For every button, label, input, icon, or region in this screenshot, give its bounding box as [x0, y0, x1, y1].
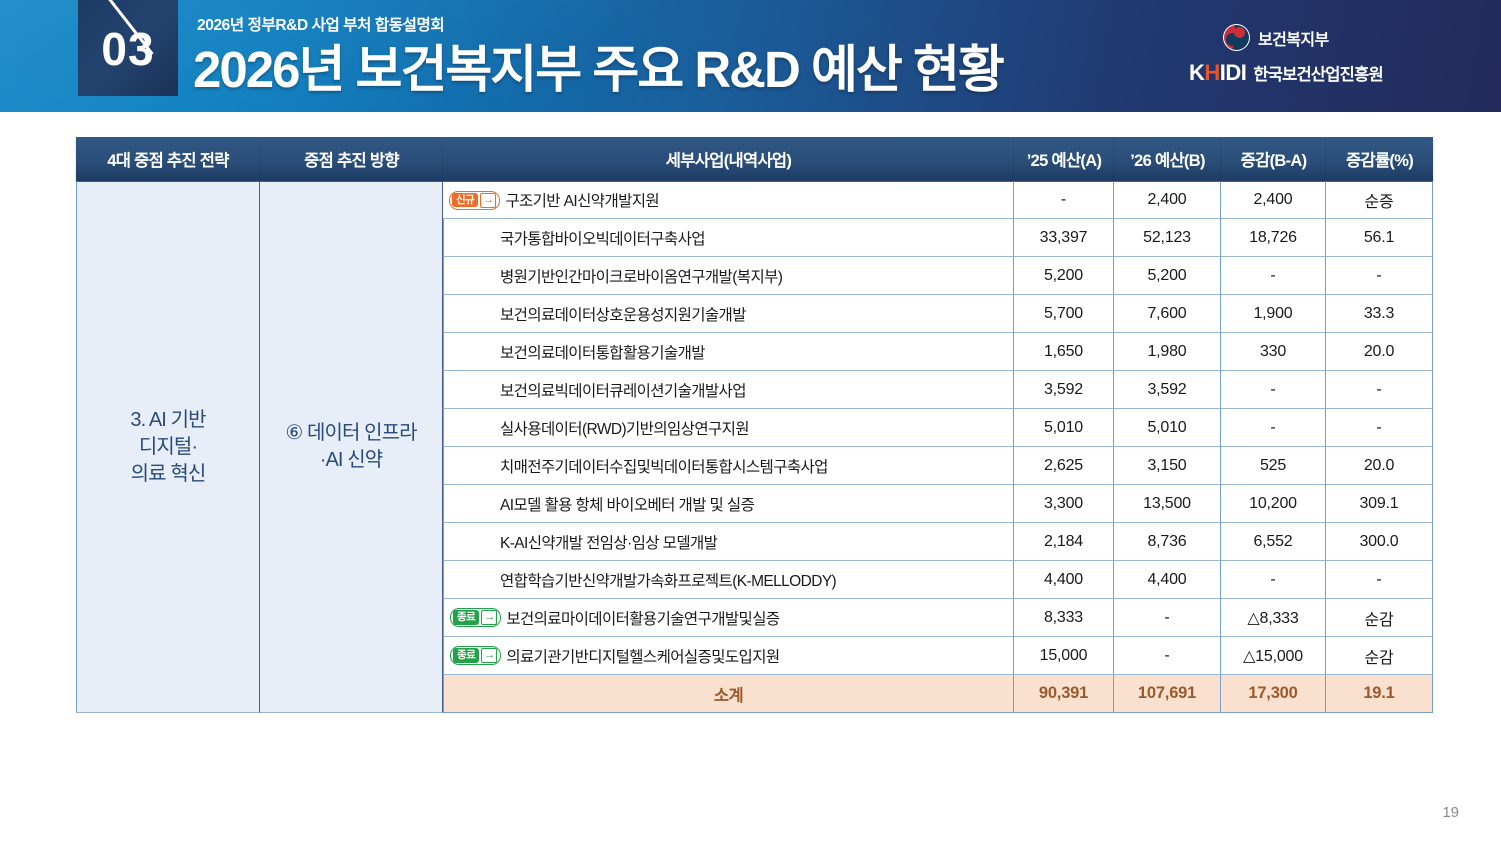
program-name-wrapper: 보건의료빅데이터큐레이션기술개발사업: [444, 379, 1013, 401]
program-name-wrapper: 신규→구조기반 AI신약개발지원: [443, 189, 1013, 211]
col-header-direction: 중점 추진 방향: [260, 137, 443, 181]
program-name-wrapper: 보건의료데이터상호운용성지원기술개발: [444, 303, 1013, 325]
cell-budget-25: 1,650: [1014, 333, 1114, 371]
cell-change: 6,552: [1221, 523, 1326, 561]
cell-change-rate: 순증: [1326, 181, 1433, 219]
col-header-budget-25: ’25 예산(A): [1014, 137, 1114, 181]
cell-program-name: 종료→의료기관기반디지털헬스케어실증및도입지원: [443, 637, 1014, 675]
budget-table: 4대 중점 추진 전략 중점 추진 방향 세부사업(내역사업) ’25 예산(A…: [76, 137, 1433, 713]
table-row: 3. AI 기반디지털·의료 혁신⑥ 데이터 인프라·AI 신약신규→구조기반 …: [76, 181, 1433, 219]
col-header-program: 세부사업(내역사업): [443, 137, 1014, 181]
cell-change-rate: 56.1: [1326, 219, 1433, 257]
cell-budget-25: 4,400: [1014, 561, 1114, 599]
khidi-wordmark: KHIDI: [1189, 60, 1246, 86]
cell-program-name: 실사용데이터(RWD)기반의임상연구지원: [443, 409, 1014, 447]
ministry-name: 보건복지부: [1258, 26, 1329, 50]
program-name: K-AI신약개발 전임상·임상 모델개발: [450, 531, 717, 553]
cell-budget-25: 33,397: [1014, 219, 1114, 257]
col-header-budget-26: ’26 예산(B): [1114, 137, 1221, 181]
cell-budget-25: 5,200: [1014, 257, 1114, 295]
cell-change-rate: -: [1326, 561, 1433, 599]
col-header-change: 증감(B-A): [1221, 137, 1326, 181]
cell-budget-26: 3,592: [1114, 371, 1221, 409]
program-name-wrapper: 보건의료데이터통합활용기술개발: [444, 341, 1013, 363]
program-name-wrapper: 병원기반인간마이크로바이옴연구개발(복지부): [444, 265, 1013, 287]
arrow-out-icon: →: [481, 610, 497, 625]
cell-change: △8,333: [1221, 599, 1326, 637]
cell-direction: ⑥ 데이터 인프라·AI 신약: [260, 181, 443, 713]
cell-program-name: 병원기반인간마이크로바이옴연구개발(복지부): [443, 257, 1014, 295]
cell-change-rate: 300.0: [1326, 523, 1433, 561]
cell-change-rate: -: [1326, 409, 1433, 447]
cell-program-name: AI모델 활용 항체 바이오베터 개발 및 실증: [443, 485, 1014, 523]
cell-change: -: [1221, 561, 1326, 599]
cell-budget-26: 4,400: [1114, 561, 1221, 599]
cell-change-rate: 33.3: [1326, 295, 1433, 333]
agency-name: 한국보건산업진흥원: [1253, 61, 1382, 85]
cell-change: 18,726: [1221, 219, 1326, 257]
new-program-badge: 신규→: [449, 191, 500, 210]
agency-logo: KHIDI 한국보건산업진흥원: [1189, 60, 1439, 86]
program-name: 실사용데이터(RWD)기반의임상연구지원: [450, 417, 749, 439]
program-name-wrapper: 국가통합바이오빅데이터구축사업: [444, 227, 1013, 249]
cell-budget-25: 8,333: [1014, 599, 1114, 637]
cell-program-name: 연합학습기반신약개발가속화프로젝트(K-MELLODDY): [443, 561, 1014, 599]
subtotal-budget-25: 90,391: [1014, 675, 1114, 713]
cell-program-name: 보건의료데이터통합활용기술개발: [443, 333, 1014, 371]
subtotal-label: 소계: [443, 675, 1014, 713]
cell-change-rate: -: [1326, 257, 1433, 295]
khidi-letter-h: H: [1204, 60, 1219, 85]
cell-program-name: 종료→보건의료마이데이터활용기술연구개발및실증: [443, 599, 1014, 637]
cell-budget-26: -: [1114, 637, 1221, 675]
section-number: 03: [78, 22, 178, 76]
cell-budget-26: 52,123: [1114, 219, 1221, 257]
program-name: 국가통합바이오빅데이터구축사업: [450, 227, 705, 249]
cell-change: 1,900: [1221, 295, 1326, 333]
section-number-box: 03: [78, 0, 178, 96]
cell-change: 330: [1221, 333, 1326, 371]
cell-change-rate: 20.0: [1326, 333, 1433, 371]
cell-budget-25: 5,700: [1014, 295, 1114, 333]
header-banner: 03 2026년 정부R&D 사업 부처 합동설명회 2026년 보건복지부 주…: [0, 0, 1501, 112]
cell-change: 525: [1221, 447, 1326, 485]
cell-budget-25: 2,625: [1014, 447, 1114, 485]
col-header-strategy: 4대 중점 추진 전략: [76, 137, 260, 181]
program-name: 구조기반 AI신약개발지원: [502, 189, 659, 211]
table-header: 4대 중점 추진 전략 중점 추진 방향 세부사업(내역사업) ’25 예산(A…: [76, 137, 1433, 181]
ending-program-badge: 종료→: [450, 608, 501, 627]
subtotal-budget-26: 107,691: [1114, 675, 1221, 713]
khidi-letter-k: K: [1189, 60, 1204, 85]
cell-budget-25: 3,300: [1014, 485, 1114, 523]
arrow-in-icon: →: [480, 193, 496, 208]
table-header-row: 4대 중점 추진 전략 중점 추진 방향 세부사업(내역사업) ’25 예산(A…: [76, 137, 1433, 181]
program-name: AI모델 활용 항체 바이오베터 개발 및 실증: [450, 493, 754, 515]
cell-program-name: K-AI신약개발 전임상·임상 모델개발: [443, 523, 1014, 561]
cell-budget-26: 3,150: [1114, 447, 1221, 485]
program-name-wrapper: 종료→의료기관기반디지털헬스케어실증및도입지원: [444, 645, 1013, 667]
budget-table-container: 4대 중점 추진 전략 중점 추진 방향 세부사업(내역사업) ’25 예산(A…: [76, 137, 1433, 713]
cell-budget-26: 5,200: [1114, 257, 1221, 295]
ministry-logo: 보건복지부: [1189, 24, 1439, 51]
cell-budget-26: -: [1114, 599, 1221, 637]
program-name-wrapper: 연합학습기반신약개발가속화프로젝트(K-MELLODDY): [444, 569, 1013, 591]
direction-line: ⑥ 데이터 인프라: [260, 420, 442, 447]
cell-program-name: 치매전주기데이터수집및빅데이터통합시스템구축사업: [443, 447, 1014, 485]
badge-label: 종료: [453, 610, 479, 624]
cell-budget-26: 13,500: [1114, 485, 1221, 523]
badge-label: 신규: [452, 193, 478, 207]
cell-budget-25: 5,010: [1014, 409, 1114, 447]
cell-change-rate: 순감: [1326, 599, 1433, 637]
program-name-wrapper: 종료→보건의료마이데이터활용기술연구개발및실증: [444, 607, 1013, 629]
cell-program-name: 보건의료빅데이터큐레이션기술개발사업: [443, 371, 1014, 409]
cell-change: -: [1221, 409, 1326, 447]
cell-program-name: 보건의료데이터상호운용성지원기술개발: [443, 295, 1014, 333]
logo-group: 보건복지부 KHIDI 한국보건산업진흥원: [1189, 24, 1439, 86]
cell-budget-26: 1,980: [1114, 333, 1221, 371]
cell-strategy: 3. AI 기반디지털·의료 혁신: [76, 181, 260, 713]
cell-budget-26: 5,010: [1114, 409, 1221, 447]
cell-budget-25: 15,000: [1014, 637, 1114, 675]
slide-root: 03 2026년 정부R&D 사업 부처 합동설명회 2026년 보건복지부 주…: [0, 0, 1501, 843]
cell-budget-25: 3,592: [1014, 371, 1114, 409]
table-body: 3. AI 기반디지털·의료 혁신⑥ 데이터 인프라·AI 신약신규→구조기반 …: [76, 181, 1433, 713]
strategy-line: 3. AI 기반: [77, 407, 259, 434]
program-name-wrapper: 실사용데이터(RWD)기반의임상연구지원: [444, 417, 1013, 439]
program-name: 치매전주기데이터수집및빅데이터통합시스템구축사업: [450, 455, 828, 477]
program-name-wrapper: AI모델 활용 항체 바이오베터 개발 및 실증: [444, 493, 1013, 515]
cell-change-rate: -: [1326, 371, 1433, 409]
cell-change: -: [1221, 371, 1326, 409]
khidi-letters-idi: IDI: [1220, 60, 1247, 85]
badge-label: 종료: [453, 648, 479, 662]
cell-change: △15,000: [1221, 637, 1326, 675]
strategy-line: 의료 혁신: [77, 461, 259, 488]
cell-change: 10,200: [1221, 485, 1326, 523]
subtotal-change: 17,300: [1221, 675, 1326, 713]
cell-budget-25: 2,184: [1014, 523, 1114, 561]
strategy-line: 디지털·: [77, 434, 259, 461]
cell-program-name: 국가통합바이오빅데이터구축사업: [443, 219, 1014, 257]
page-number: 19: [1442, 804, 1459, 821]
cell-change: 2,400: [1221, 181, 1326, 219]
taegeuk-swirl-red: [1234, 27, 1245, 38]
cell-change-rate: 20.0: [1326, 447, 1433, 485]
program-name: 보건의료데이터상호운용성지원기술개발: [450, 303, 746, 325]
ending-program-badge: 종료→: [450, 646, 501, 665]
program-name: 보건의료빅데이터큐레이션기술개발사업: [450, 379, 746, 401]
taegeuk-swirl-blue: [1226, 33, 1239, 46]
taegeuk-icon: [1223, 24, 1250, 51]
cell-budget-26: 8,736: [1114, 523, 1221, 561]
arrow-out-icon: →: [481, 648, 497, 663]
page-title: 2026년 보건복지부 주요 R&D 예산 현황: [193, 28, 1003, 102]
cell-change-rate: 순감: [1326, 637, 1433, 675]
program-name: 병원기반인간마이크로바이옴연구개발(복지부): [450, 265, 782, 287]
cell-budget-25: -: [1014, 181, 1114, 219]
subtotal-change-rate: 19.1: [1326, 675, 1433, 713]
program-name: 보건의료마이데이터활용기술연구개발및실증: [503, 607, 779, 629]
cell-budget-26: 7,600: [1114, 295, 1221, 333]
program-name: 의료기관기반디지털헬스케어실증및도입지원: [503, 645, 779, 667]
program-name-wrapper: K-AI신약개발 전임상·임상 모델개발: [444, 531, 1013, 553]
col-header-rate: 증감률(%): [1326, 137, 1433, 181]
program-name-wrapper: 치매전주기데이터수집및빅데이터통합시스템구축사업: [444, 455, 1013, 477]
cell-change-rate: 309.1: [1326, 485, 1433, 523]
program-name: 보건의료데이터통합활용기술개발: [450, 341, 705, 363]
cell-program-name: 신규→구조기반 AI신약개발지원: [443, 181, 1014, 219]
direction-line: ·AI 신약: [260, 447, 442, 474]
cell-budget-26: 2,400: [1114, 181, 1221, 219]
program-name: 연합학습기반신약개발가속화프로젝트(K-MELLODDY): [450, 569, 836, 591]
cell-change: -: [1221, 257, 1326, 295]
